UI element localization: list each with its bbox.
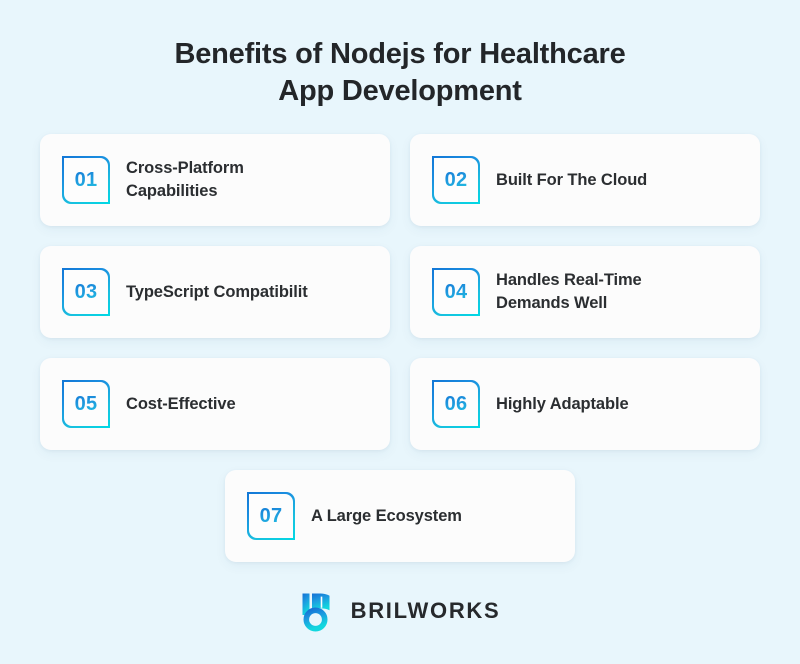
infographic-root: Benefits of Nodejs for Healthcare App De… <box>0 0 800 664</box>
number-badge-value: 02 <box>445 169 468 192</box>
number-badge-inner: 05 <box>64 382 108 426</box>
page-title-line-2: App Development <box>278 75 522 107</box>
number-badge-value: 05 <box>75 393 98 416</box>
benefit-card-label-line-1: Built For The Cloud <box>496 171 647 189</box>
brand-wordmark: BRILWORKS <box>351 598 501 624</box>
number-badge-inner: 02 <box>434 158 478 202</box>
number-badge-value: 04 <box>445 281 468 304</box>
number-badge-01: 01 <box>62 156 110 204</box>
number-badge-inner: 01 <box>64 158 108 202</box>
number-badge-value: 03 <box>75 281 98 304</box>
number-badge-02: 02 <box>432 156 480 204</box>
number-badge-inner: 04 <box>434 270 478 314</box>
benefit-card-label: Built For The Cloud <box>496 169 647 192</box>
number-badge-03: 03 <box>62 268 110 316</box>
benefit-card-03[interactable]: 03 TypeScript Compatibilit <box>40 246 390 338</box>
benefit-card-label-line-2: Demands Well <box>496 294 607 312</box>
number-badge-05: 05 <box>62 380 110 428</box>
benefit-card-label: Cost-Effective <box>126 393 236 416</box>
benefit-card-label: Highly Adaptable <box>496 393 629 416</box>
benefit-card-04[interactable]: 04 Handles Real-Time Demands Well <box>410 246 760 338</box>
benefit-card-label-line-1: Handles Real-Time <box>496 271 642 289</box>
number-badge-value: 07 <box>260 505 283 528</box>
benefit-card-label-line-1: TypeScript Compatibilit <box>126 283 308 301</box>
benefit-card-label-line-1: A Large Ecosystem <box>311 507 462 525</box>
benefit-card-label: Cross-Platform Capabilities <box>126 157 244 203</box>
benefit-card-label-line-1: Highly Adaptable <box>496 395 629 413</box>
brilworks-b-logo-icon <box>300 590 340 632</box>
benefit-card-label-line-1: Cross-Platform <box>126 159 244 177</box>
page-title-block: Benefits of Nodejs for Healthcare App De… <box>0 0 800 110</box>
benefit-card-label-line-1: Cost-Effective <box>126 395 236 413</box>
number-badge-04: 04 <box>432 268 480 316</box>
benefit-card-label: TypeScript Compatibilit <box>126 281 308 304</box>
footer-logo: BRILWORKS <box>0 590 800 632</box>
benefit-card-01[interactable]: 01 Cross-Platform Capabilities <box>40 134 390 226</box>
benefit-card-label: A Large Ecosystem <box>311 505 462 528</box>
page-title-line-1: Benefits of Nodejs for Healthcare <box>174 38 625 70</box>
number-badge-06: 06 <box>432 380 480 428</box>
benefit-card-row-last: 07 A Large Ecosystem <box>40 470 760 562</box>
number-badge-value: 01 <box>75 169 98 192</box>
benefit-card-02[interactable]: 02 Built For The Cloud <box>410 134 760 226</box>
benefit-card-label-line-2: Capabilities <box>126 182 217 200</box>
benefit-card-05[interactable]: 05 Cost-Effective <box>40 358 390 450</box>
number-badge-inner: 06 <box>434 382 478 426</box>
benefit-card-07[interactable]: 07 A Large Ecosystem <box>225 470 575 562</box>
number-badge-value: 06 <box>445 393 468 416</box>
number-badge-inner: 07 <box>249 494 293 538</box>
number-badge-07: 07 <box>247 492 295 540</box>
page-title: Benefits of Nodejs for Healthcare App De… <box>120 36 680 110</box>
number-badge-inner: 03 <box>64 270 108 314</box>
benefit-card-06[interactable]: 06 Highly Adaptable <box>410 358 760 450</box>
benefit-card-grid: 01 Cross-Platform Capabilities 02 Built … <box>0 134 800 562</box>
benefit-card-label: Handles Real-Time Demands Well <box>496 269 642 315</box>
